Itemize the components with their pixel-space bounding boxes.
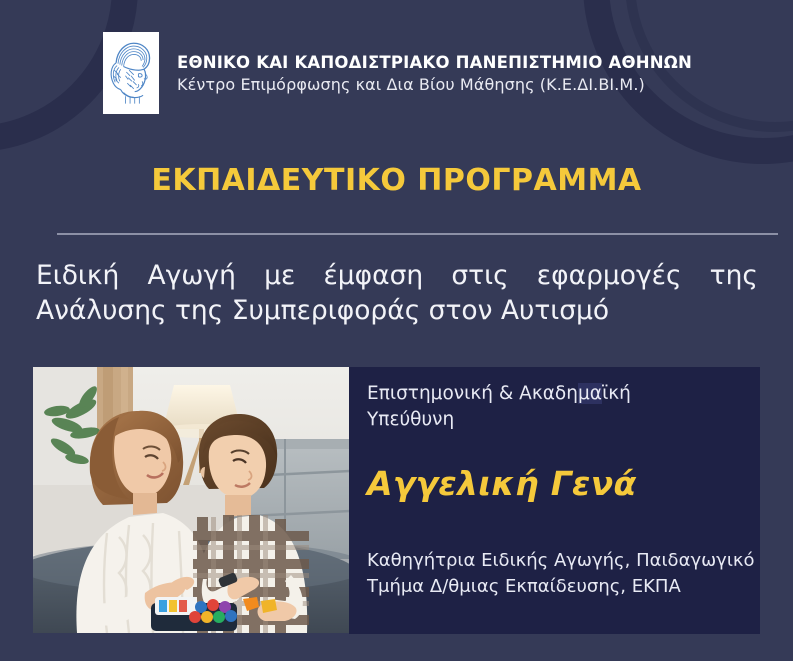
athena-helmet-icon — [105, 34, 157, 112]
presentation-slide: ΕΘΝΙΚΟ ΚΑΙ ΚΑΠΟΔΙΣΤΡΙΑΚΟ ΠΑΝΕΠΙΣΤΗΜΙΟ ΑΘ… — [0, 0, 793, 661]
photo-illustration — [33, 367, 350, 633]
institution-header: ΕΘΝΙΚΟ ΚΑΙ ΚΑΠΟΔΙΣΤΡΙΑΚΟ ΠΑΝΕΠΙΣΤΗΜΙΟ ΑΘ… — [103, 32, 692, 114]
institution-text-block: ΕΘΝΙΚΟ ΚΑΙ ΚΑΠΟΔΙΣΤΡΙΑΚΟ ΠΑΝΕΠΙΣΤΗΜΙΟ ΑΘ… — [177, 53, 692, 94]
affiliation-line-2: Τμήμα Δ/θμιας Εκπαίδευσης, ΕΚΠΑ — [367, 576, 681, 597]
program-title: Ειδική Αγωγή με έμφαση στις εφαρμογές τη… — [36, 258, 758, 328]
institution-unit: Κέντρο Επιμόρφωσης και Δια Βίου Μάθησης … — [177, 75, 692, 94]
program-title-line-1: Ειδική Αγωγή με έμφαση στις εφαρμογές τη… — [36, 258, 758, 293]
role-text-highlighted: μα — [578, 383, 602, 404]
role-text-a: Επιστημονική & Ακαδη — [367, 383, 578, 404]
role-text-c: ϊκή — [602, 383, 631, 404]
instructor-role: Επιστημονική & Ακαδημαϊκή Υπεύθυνη — [367, 381, 760, 432]
program-eyebrow-label: ΕΚΠΑΙΔΕΥΤΙΚΟ ΠΡΟΓΡΑΜΜΑ — [0, 163, 793, 198]
university-logo — [103, 32, 159, 114]
instructor-name: Αγγελική Γενά — [367, 464, 760, 503]
instructor-role-line-2: Υπεύθυνη — [367, 409, 454, 430]
program-photo — [33, 367, 350, 633]
instructor-panel: Επιστημονική & Ακαδημαϊκή Υπεύθυνη Αγγελ… — [349, 367, 760, 634]
affiliation-line-1: Καθηγήτρια Ειδικής Αγωγής, Παιδαγωγικό — [367, 550, 755, 571]
program-title-line-2: Ανάλυσης της Συμπεριφοράς στον Αυτισμό — [36, 293, 758, 328]
header-divider — [57, 233, 778, 235]
instructor-affiliation: Καθηγήτρια Ειδικής Αγωγής, Παιδαγωγικό Τ… — [367, 548, 760, 600]
instructor-role-line-1: Επιστημονική & Ακαδημαϊκή — [367, 383, 631, 404]
institution-name: ΕΘΝΙΚΟ ΚΑΙ ΚΑΠΟΔΙΣΤΡΙΑΚΟ ΠΑΝΕΠΙΣΤΗΜΙΟ ΑΘ… — [177, 53, 692, 72]
